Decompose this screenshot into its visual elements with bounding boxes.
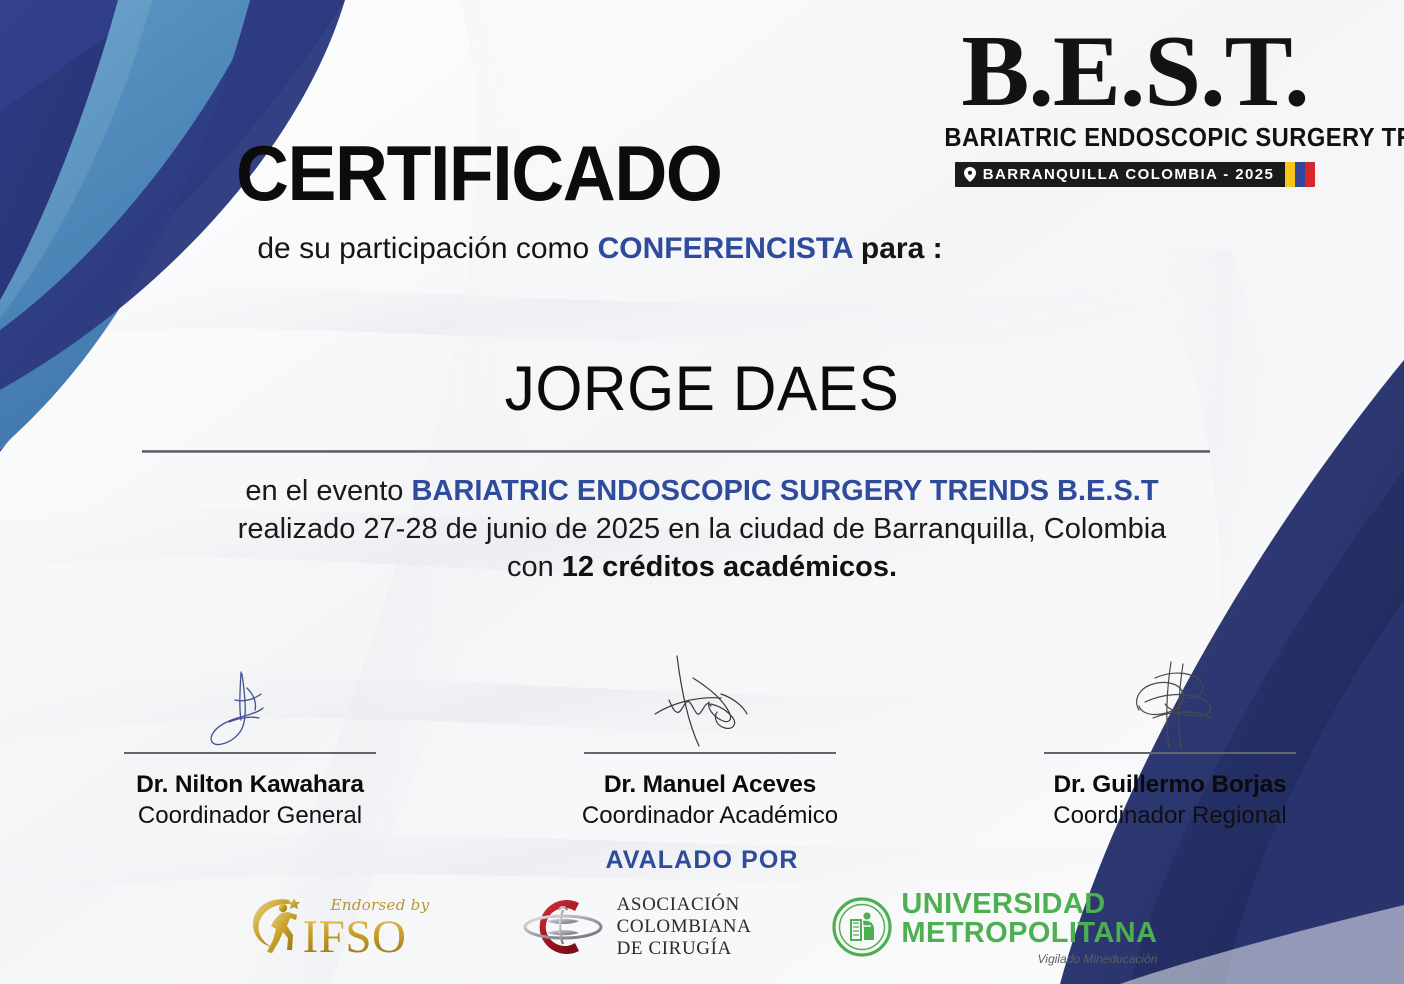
location-pin-icon <box>964 167 976 182</box>
acc-wordmark: ASOCIACIÓN COLOMBIANA DE CIRUGÍA <box>617 894 752 960</box>
signatory-name-3: Dr. Guillermo Borjas <box>980 771 1360 799</box>
event-details: en el evento BARIATRIC ENDOSCOPIC SURGER… <box>0 472 1404 586</box>
signature-mark-3 <box>980 660 1360 752</box>
event-credits: 12 créditos académicos. <box>562 551 897 583</box>
best-logo-location-badge: BARRANQUILLA COLOMBIA - 2025 <box>955 162 1315 187</box>
signatory-role-1: Coordinador General <box>60 802 440 830</box>
page-title: CERTIFICADO <box>236 128 721 219</box>
unimetro-note: Vigilado Mineducación <box>1038 953 1158 965</box>
seated-figure-seal-icon <box>831 896 893 958</box>
signature-line-3 <box>1044 752 1296 754</box>
universidad-metropolitana-logo: UNIVERSIDAD METROPOLITANA Vigilado Mined… <box>831 890 1157 965</box>
certificate-subtitle: de su participación como CONFERENCISTA p… <box>0 232 1200 266</box>
event-name: BARIATRIC ENDOSCOPIC SURGERY TRENDS B.E.… <box>411 475 1158 507</box>
signatory-name-1: Dr. Nilton Kawahara <box>60 771 440 799</box>
subtitle-prefix: de su participación como <box>257 232 589 265</box>
endorsement-logos: Endorsed by IFSO <box>0 888 1404 966</box>
best-logo-wordmark: B.E.S.T. <box>930 22 1340 122</box>
signatory-role-3: Coordinador Regional <box>980 802 1360 830</box>
signature-line-2 <box>584 752 836 754</box>
signature-block-3: Dr. Guillermo Borjas Coordinador Regiona… <box>980 660 1360 830</box>
subtitle-suffix: para : <box>861 232 943 265</box>
ifso-logo: Endorsed by IFSO <box>247 890 437 964</box>
participant-role: CONFERENCISTA <box>598 232 853 265</box>
signatory-role-2: Coordinador Académico <box>520 802 900 830</box>
event-line-3: con 12 créditos académicos. <box>0 548 1404 586</box>
event-line-2: realizado 27-28 de junio de 2025 en la c… <box>0 510 1404 548</box>
red-c-caduceus-icon <box>517 888 609 966</box>
acc-line-3: DE CIRUGÍA <box>617 938 752 960</box>
endorsement-heading: AVALADO POR <box>0 846 1404 875</box>
unimetro-line-1: UNIVERSIDAD <box>901 890 1157 919</box>
signature-line-1 <box>124 752 376 754</box>
recipient-name: JORGE DAES <box>28 353 1376 425</box>
event-line1-prefix: en el evento <box>245 475 403 507</box>
colombia-flag-icon <box>1285 162 1315 187</box>
asociacion-colombiana-cirugia-logo: ASOCIACIÓN COLOMBIANA DE CIRUGÍA <box>517 888 752 966</box>
event-line-1: en el evento BARIATRIC ENDOSCOPIC SURGER… <box>0 472 1404 510</box>
signatory-name-2: Dr. Manuel Aceves <box>520 771 900 799</box>
best-logo-badge-text: BARRANQUILLA COLOMBIA - 2025 <box>983 166 1274 183</box>
running-figure-globe-icon <box>247 890 309 956</box>
best-logo: B.E.S.T. BARIATRIC ENDOSCOPIC SURGERY TR… <box>930 22 1340 187</box>
unimetro-wordmark: UNIVERSIDAD METROPOLITANA Vigilado Mined… <box>901 890 1157 965</box>
signature-block-1: Dr. Nilton Kawahara Coordinador General <box>60 660 440 830</box>
signature-block-2: Dr. Manuel Aceves Coordinador Académico <box>520 660 900 830</box>
acc-line-2: COLOMBIANA <box>617 916 752 938</box>
name-divider <box>142 450 1210 453</box>
signature-mark-2 <box>520 660 900 752</box>
signature-mark-1 <box>60 660 440 752</box>
acc-line-1: ASOCIACIÓN <box>617 894 752 916</box>
event-line3-prefix: con <box>507 551 554 583</box>
ifso-wordmark: IFSO <box>303 910 407 964</box>
unimetro-line-2: METROPOLITANA <box>901 919 1157 948</box>
best-logo-tagline: BARIATRIC ENDOSCOPIC SURGERY TRENDS <box>944 124 1325 153</box>
certificate-document: B.E.S.T. BARIATRIC ENDOSCOPIC SURGERY TR… <box>0 0 1404 984</box>
signature-row: Dr. Nilton Kawahara Coordinador General … <box>60 660 1360 830</box>
